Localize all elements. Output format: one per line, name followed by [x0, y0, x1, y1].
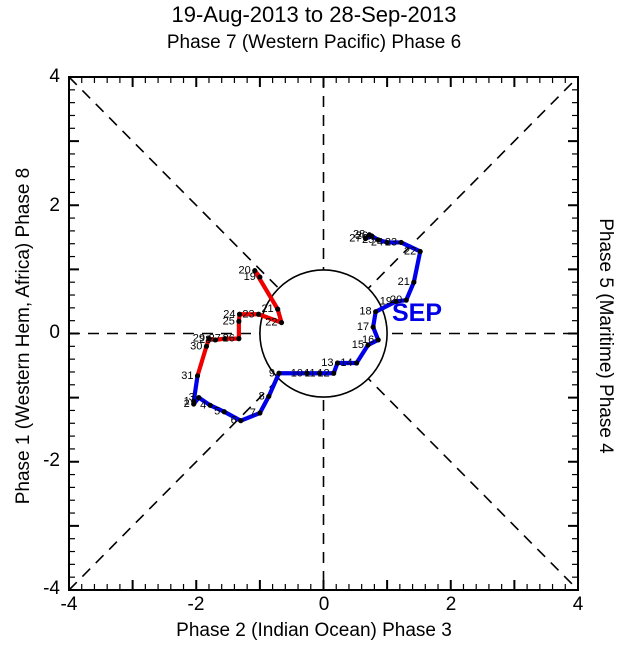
mjo-phase-diagram: 19-Aug-2013 to 28-Sep-2013 Phase 7 (West…: [0, 0, 628, 656]
month-marker-sep: SEP: [392, 299, 442, 327]
data-point: [371, 324, 376, 329]
data-point: [367, 232, 372, 237]
data-point: [252, 268, 257, 273]
data-point: [376, 237, 381, 242]
data-point-label: 6: [231, 415, 237, 427]
data-point: [236, 319, 241, 324]
data-point: [204, 344, 209, 349]
plot-canvas: 1920212223242526272829303112345678910111…: [0, 0, 628, 656]
data-point-label: 5: [214, 406, 220, 418]
data-point-label: 11: [304, 367, 315, 379]
data-point: [213, 337, 218, 342]
data-point-label: 31: [181, 370, 193, 382]
data-point-label: 21: [261, 303, 273, 315]
data-point: [238, 418, 243, 423]
data-point: [331, 371, 336, 376]
data-point-label: 9: [269, 367, 275, 379]
data-point: [237, 312, 242, 317]
data-point: [266, 394, 271, 399]
data-point: [376, 337, 381, 342]
data-point-label: 30: [190, 340, 202, 352]
data-point-label: 28: [353, 229, 365, 241]
data-point-label: 12: [317, 367, 329, 379]
data-point: [354, 360, 359, 365]
data-point-label: 8: [259, 390, 265, 402]
data-point-label: 17: [357, 321, 369, 333]
data-point: [206, 336, 211, 341]
data-point-label: 23: [242, 308, 254, 320]
data-point-label: 22: [265, 317, 277, 329]
data-point: [257, 410, 262, 415]
data-point: [222, 336, 227, 341]
data-point-label: 13: [321, 357, 333, 369]
data-point-label: 7: [250, 407, 256, 419]
data-point: [418, 249, 423, 254]
data-point-label: 22: [404, 245, 416, 257]
data-point-label: 18: [359, 306, 371, 318]
data-point-label: 3: [189, 392, 195, 404]
data-point: [256, 312, 261, 317]
data-point-label: 16: [362, 334, 374, 346]
data-point-label: 20: [239, 265, 251, 277]
data-point: [222, 409, 227, 414]
data-point: [208, 403, 213, 408]
data-point-label: 21: [398, 276, 410, 288]
data-point-label: 10: [291, 367, 303, 379]
data-point: [399, 240, 404, 245]
data-point-label: 25: [223, 315, 235, 327]
data-point: [335, 360, 340, 365]
data-point: [236, 336, 241, 341]
data-point: [257, 274, 262, 279]
data-point-label: 14: [340, 357, 352, 369]
data-point: [385, 240, 390, 245]
data-point: [275, 307, 280, 312]
data-point: [279, 320, 284, 325]
data-point: [411, 280, 416, 285]
data-point-label: 4: [200, 399, 206, 411]
data-point: [276, 371, 281, 376]
data-point: [195, 373, 200, 378]
data-point: [373, 309, 378, 314]
